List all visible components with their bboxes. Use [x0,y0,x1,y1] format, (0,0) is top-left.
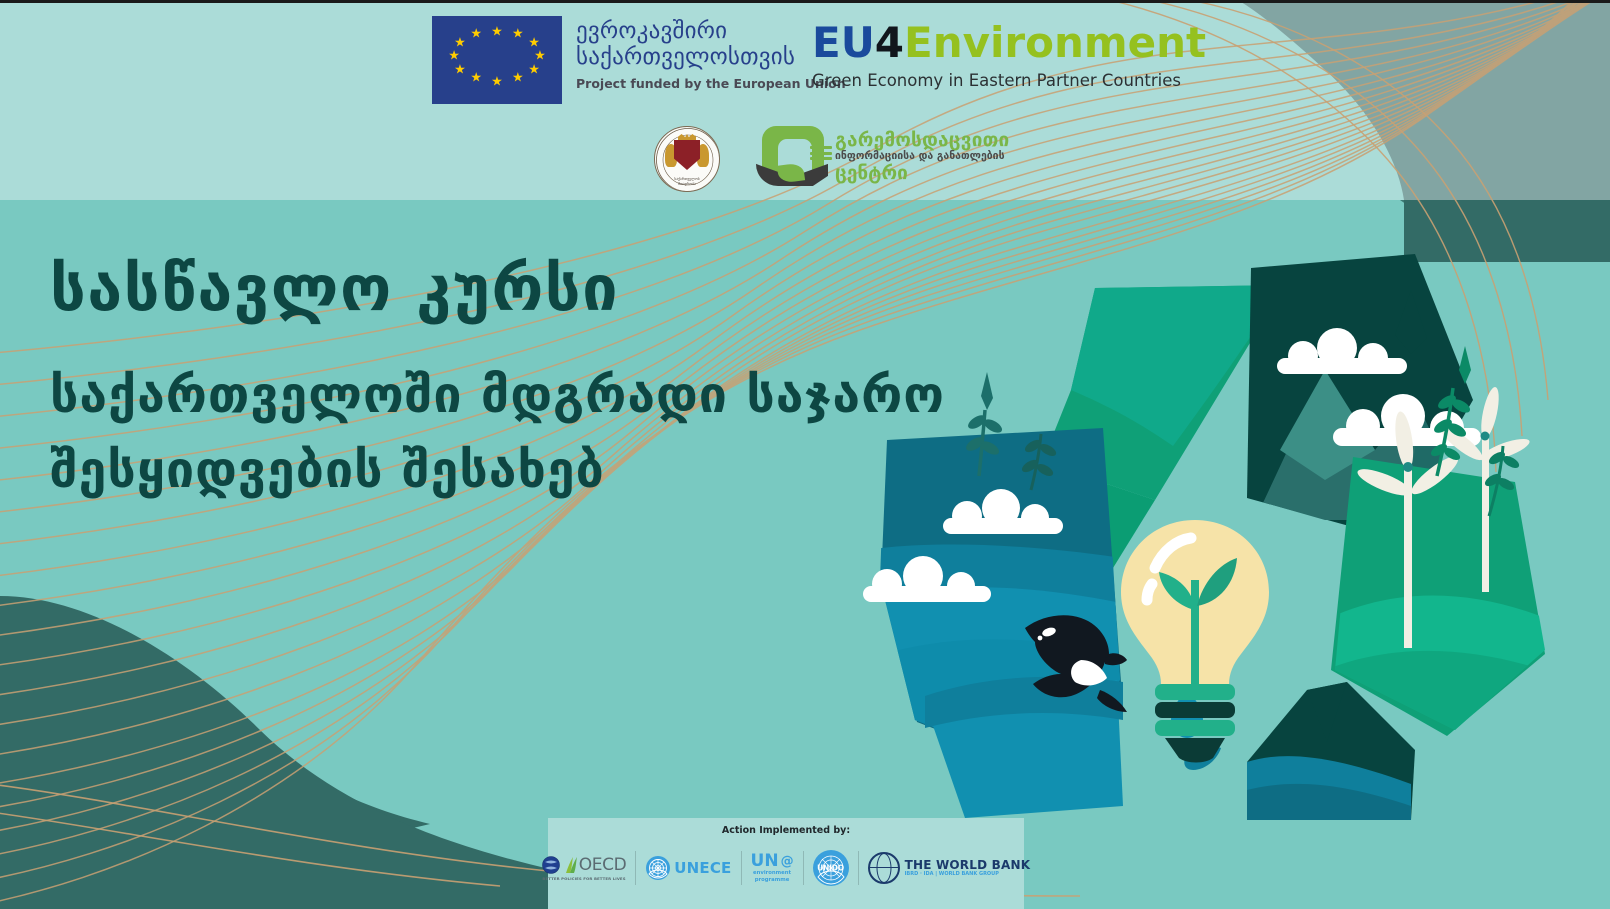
poster-title-block: სასწავლო კურსი საქართველოში მდგრადი საჯა… [50,252,950,508]
european-union-flag-icon: ★ ★ ★ ★ ★ ★ ★ ★ ★ ★ ★ ★ [432,16,562,104]
oecd-logo: OECD BETTER POLICIES FOR BETTER LIVES [533,848,635,888]
world-bank-sublabel: IBRD · IDA | WORLD BANK GROUP [905,872,1031,877]
lightbulb-with-sprout-icon [1121,520,1269,763]
eu-logo-line2: საქართველოსთვის [576,44,846,70]
eiec-logo: გარემოსდაცვითი ინფორმაციისა და განათლები… [756,126,1009,188]
eu4env-tagline: Green Economy in Eastern Partner Countri… [812,71,1206,90]
un-environment-programme-logo: UN @ environment programme [742,848,803,888]
eu4env-four: 4 [875,18,904,67]
unep-sub1: environment [753,871,791,876]
eu-funding-logo: ★ ★ ★ ★ ★ ★ ★ ★ ★ ★ ★ ★ ევროკავშირი საქა… [432,16,846,104]
oecd-tagline: BETTER POLICIES FOR BETTER LIVES [542,876,625,881]
eiec-mark-icon [756,126,828,188]
world-bank-label: THE WORLD BANK [905,859,1031,872]
page-subtitle-line2: შესყიდვების შესახებ [50,433,950,508]
world-bank-globe-icon [868,852,900,884]
world-bank-logo: THE WORLD BANK IBRD · IDA | WORLD BANK G… [859,848,1040,888]
unece-logo: UNECE [636,848,740,888]
top-edge-rule [0,0,1610,3]
eu4env-eu: EU [812,18,875,67]
recycling-arrow-bottom-left [925,677,1123,818]
eu4environment-logo: EU4Environment Green Economy in Eastern … [812,22,1206,90]
header-logos-region: ★ ★ ★ ★ ★ ★ ★ ★ ★ ★ ★ ★ ევროკავშირი საქა… [0,0,1610,200]
unep-label: UN [751,853,779,870]
oecd-swoosh-icon [564,856,577,874]
unep-at-symbol-icon: @ [781,855,794,868]
unido-label: UNIDO [813,864,849,873]
oecd-label: OECD [579,855,626,875]
emblem-caption-line2: მთავრობა [655,182,719,186]
eiec-line2: ინფორმაციისა და განათლების [835,151,1009,162]
georgia-government-emblem-icon: საქართველოს მთავრობა [654,126,720,192]
footer-caption: Action Implemented by: [548,825,1024,836]
eiec-line1: გარემოსდაცვითი [835,131,1009,151]
eu4env-env: Environment [904,18,1206,67]
sustainability-recycling-illustration [855,250,1555,820]
unece-label: UNECE [674,859,731,877]
un-emblem-icon [645,855,671,881]
emblem-crown [678,134,696,141]
page-subtitle-line1: საქართველოში მდგრადი საჯარო [50,358,950,433]
poster-canvas: ★ ★ ★ ★ ★ ★ ★ ★ ★ ★ ★ ★ ევროკავშირი საქა… [0,0,1610,909]
unep-sub2: programme [755,878,790,883]
unido-emblem-icon: UNIDO [813,850,849,886]
eu-logo-subtitle: Project funded by the European Union [576,76,846,91]
eiec-line3: ცენტრი [835,164,1009,184]
footer-partner-band: Action Implemented by: [548,818,1024,909]
unido-logo: UNIDO [804,848,858,888]
page-title: სასწავლო კურსი [50,252,950,326]
eu-logo-line1: ევროკავშირი [576,18,846,44]
oecd-globe-icon [542,855,562,875]
